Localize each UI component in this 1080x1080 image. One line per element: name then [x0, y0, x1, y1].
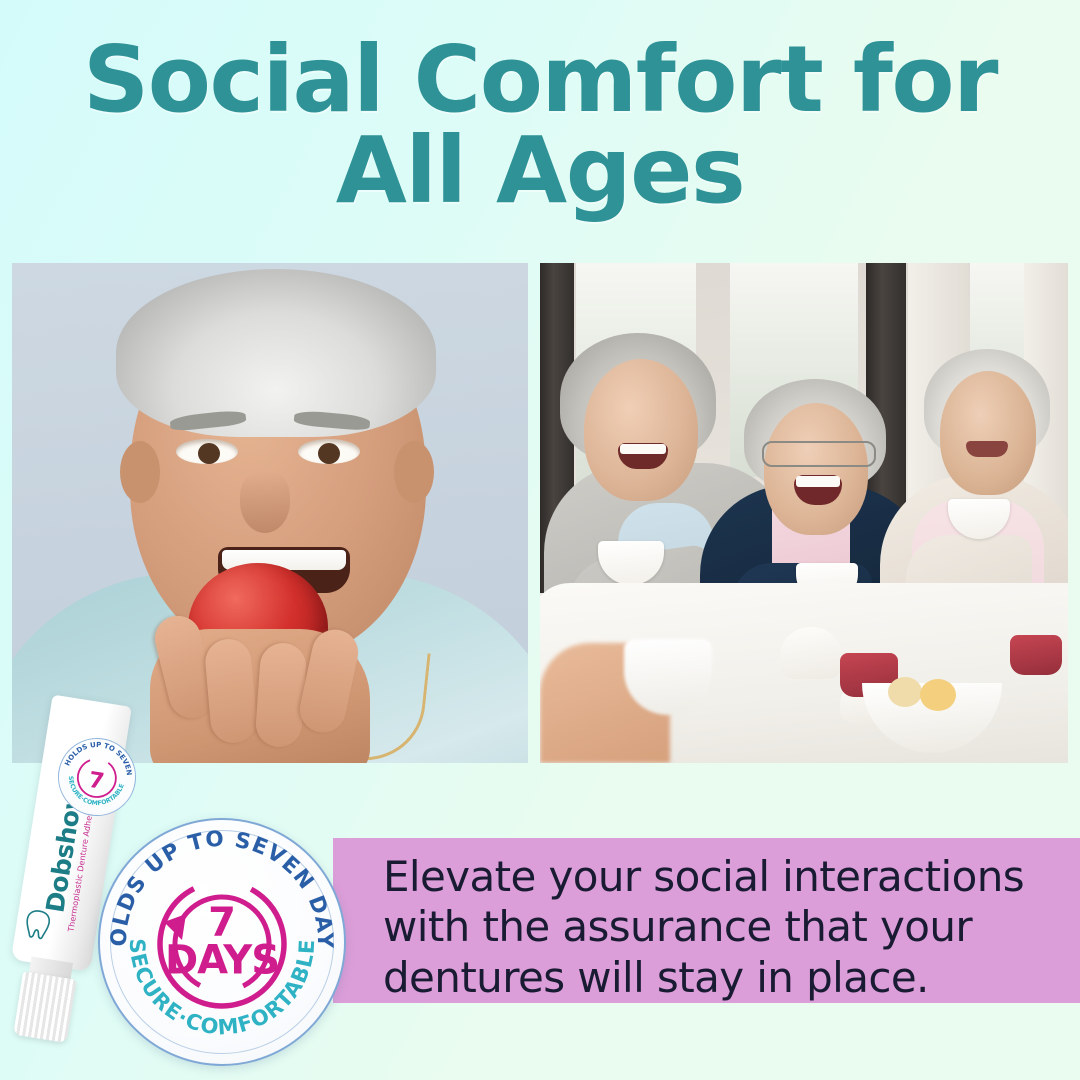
page-title: Social Comfort for All Ages	[40, 34, 1040, 216]
badge-mini-artwork: HOLDS UP TO SEVEN SECURE·COMFORTABLE 7	[52, 732, 141, 821]
man-pupil-right	[318, 443, 340, 464]
fruit	[920, 679, 956, 711]
man-finger	[254, 642, 307, 749]
badge-unit: DAYS	[165, 942, 279, 980]
man-ear-right	[394, 441, 434, 503]
man-ear-left	[120, 441, 160, 503]
badge-number: 7	[165, 904, 279, 942]
woman-center-face	[764, 403, 868, 535]
man-hair	[116, 269, 436, 437]
eyeglasses-icon	[762, 441, 876, 467]
caption-text: Elevate your social interactions with th…	[383, 852, 1055, 1003]
woman-left-face	[584, 359, 698, 501]
fruit	[888, 677, 922, 707]
man-nose	[240, 471, 290, 533]
badge-mini-number: 7	[87, 768, 106, 795]
badge-center-label: 7 DAYS	[165, 904, 279, 979]
woman-right-face	[940, 371, 1036, 495]
jam-jar	[1010, 635, 1062, 675]
man-pupil-left	[198, 443, 220, 464]
photo-man-eating-apple	[12, 263, 528, 763]
woman-right-mouth	[966, 441, 1008, 457]
poster-root: Social Comfort for All Ages	[0, 0, 1080, 1080]
tube-cap	[13, 971, 76, 1043]
teapot	[780, 627, 842, 679]
seven-day-badge: HOLDS UP TO SEVEN DAYS SECURE·COMFORTABL…	[98, 818, 346, 1066]
tooth-icon	[23, 907, 53, 941]
woman-left-teeth	[620, 444, 666, 454]
woman-center-teeth	[796, 476, 840, 487]
photo-women-tea-party	[540, 263, 1068, 763]
seven-day-badge-mini: HOLDS UP TO SEVEN SECURE·COMFORTABLE 7	[52, 732, 141, 821]
